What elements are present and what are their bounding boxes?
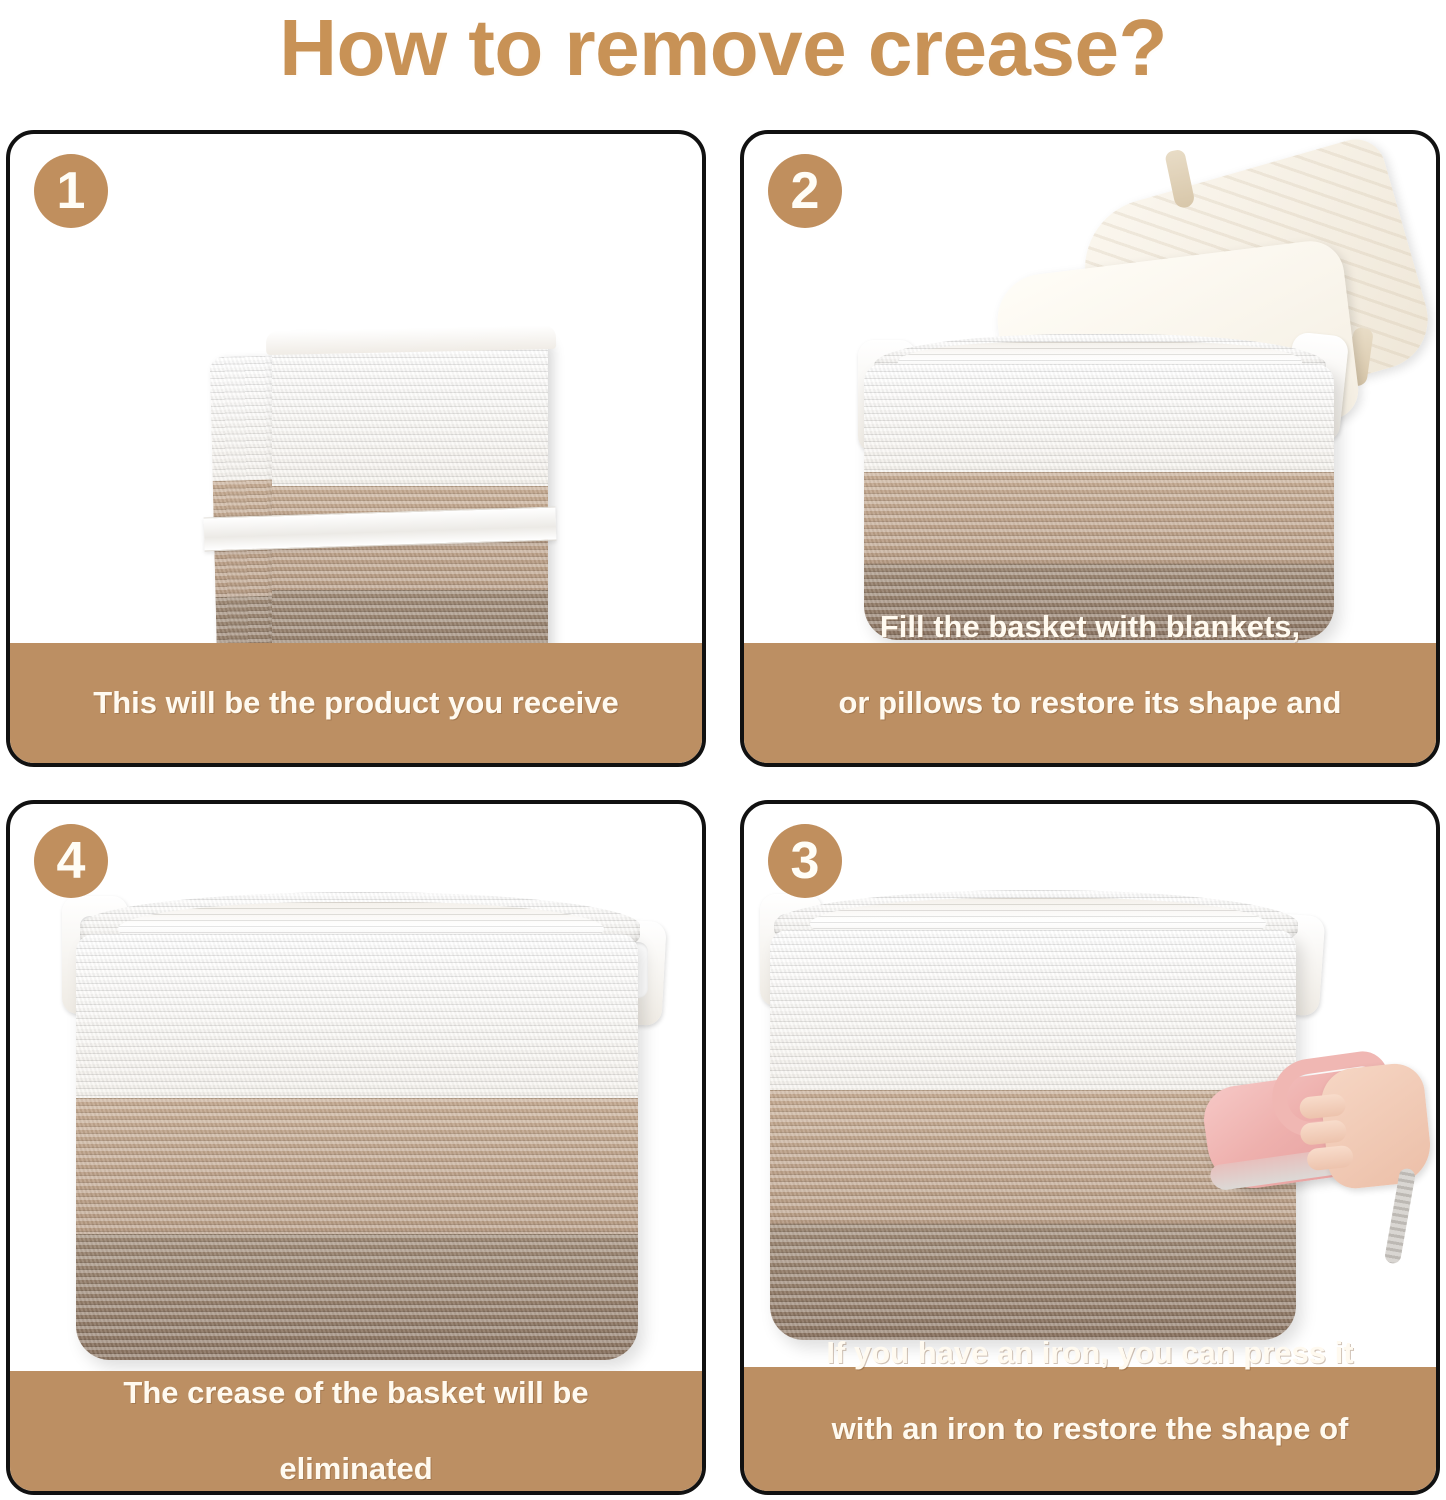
caption-text: The crease of the basket will be elimina… [26, 1374, 686, 1488]
finger [1299, 1093, 1347, 1120]
step-number-badge-1: 1 [34, 154, 108, 228]
caption-line: Fill the basket with blankets, [760, 608, 1420, 646]
step-image-4 [10, 804, 702, 1375]
finger [1299, 1119, 1347, 1146]
step-number-badge-3: 3 [768, 824, 842, 898]
caption-line: wait for a few hours [760, 760, 1420, 767]
step-panel-2: 2 [740, 130, 1440, 767]
folded-basket-front-fold [272, 336, 548, 651]
step-panel-4: 4 The c [6, 800, 706, 1495]
basket-with-pillows [864, 330, 1334, 640]
caption-line: eliminated [26, 1450, 686, 1488]
caption-line: This will be the product you receive [26, 684, 686, 722]
caption-line: with an iron to restore the shape of [760, 1410, 1420, 1448]
basket-body [864, 364, 1334, 640]
basket-body [76, 934, 638, 1360]
step-number-badge-4: 4 [34, 824, 108, 898]
caption-line: If you have an iron, you can press it [760, 1334, 1420, 1372]
caption-text: Fill the basket with blankets, or pillow… [760, 608, 1420, 767]
step-caption-1: This will be the product you receive [10, 643, 702, 763]
step-panel-3: 3 [740, 800, 1440, 1495]
step-caption-4: The crease of the basket will be elimina… [10, 1371, 702, 1491]
clothes-iron [1206, 1050, 1436, 1280]
step-caption-2: Fill the basket with blankets, or pillow… [744, 643, 1436, 763]
hand-holding-iron [1318, 1061, 1434, 1191]
step-panel-1: 1 This will be the produc [6, 130, 706, 767]
folded-basket-illustration [206, 330, 566, 651]
caption-line: The crease of the basket will be [26, 1374, 686, 1412]
step-image-1 [10, 134, 702, 651]
step-image-3 [744, 804, 1436, 1375]
caption-line: the product more quickly [760, 1486, 1420, 1495]
instruction-infographic: How to remove crease? 1 [0, 0, 1446, 1500]
step-caption-3: If you have an iron, you can press it wi… [744, 1367, 1436, 1491]
step-number-badge-2: 2 [768, 154, 842, 228]
caption-line: or pillows to restore its shape and [760, 684, 1420, 722]
restored-basket [66, 890, 666, 1360]
caption-text: If you have an iron, you can press it wi… [760, 1334, 1420, 1495]
finger [1306, 1145, 1354, 1172]
page-title: How to remove crease? [0, 2, 1446, 94]
step-image-2 [744, 134, 1436, 651]
